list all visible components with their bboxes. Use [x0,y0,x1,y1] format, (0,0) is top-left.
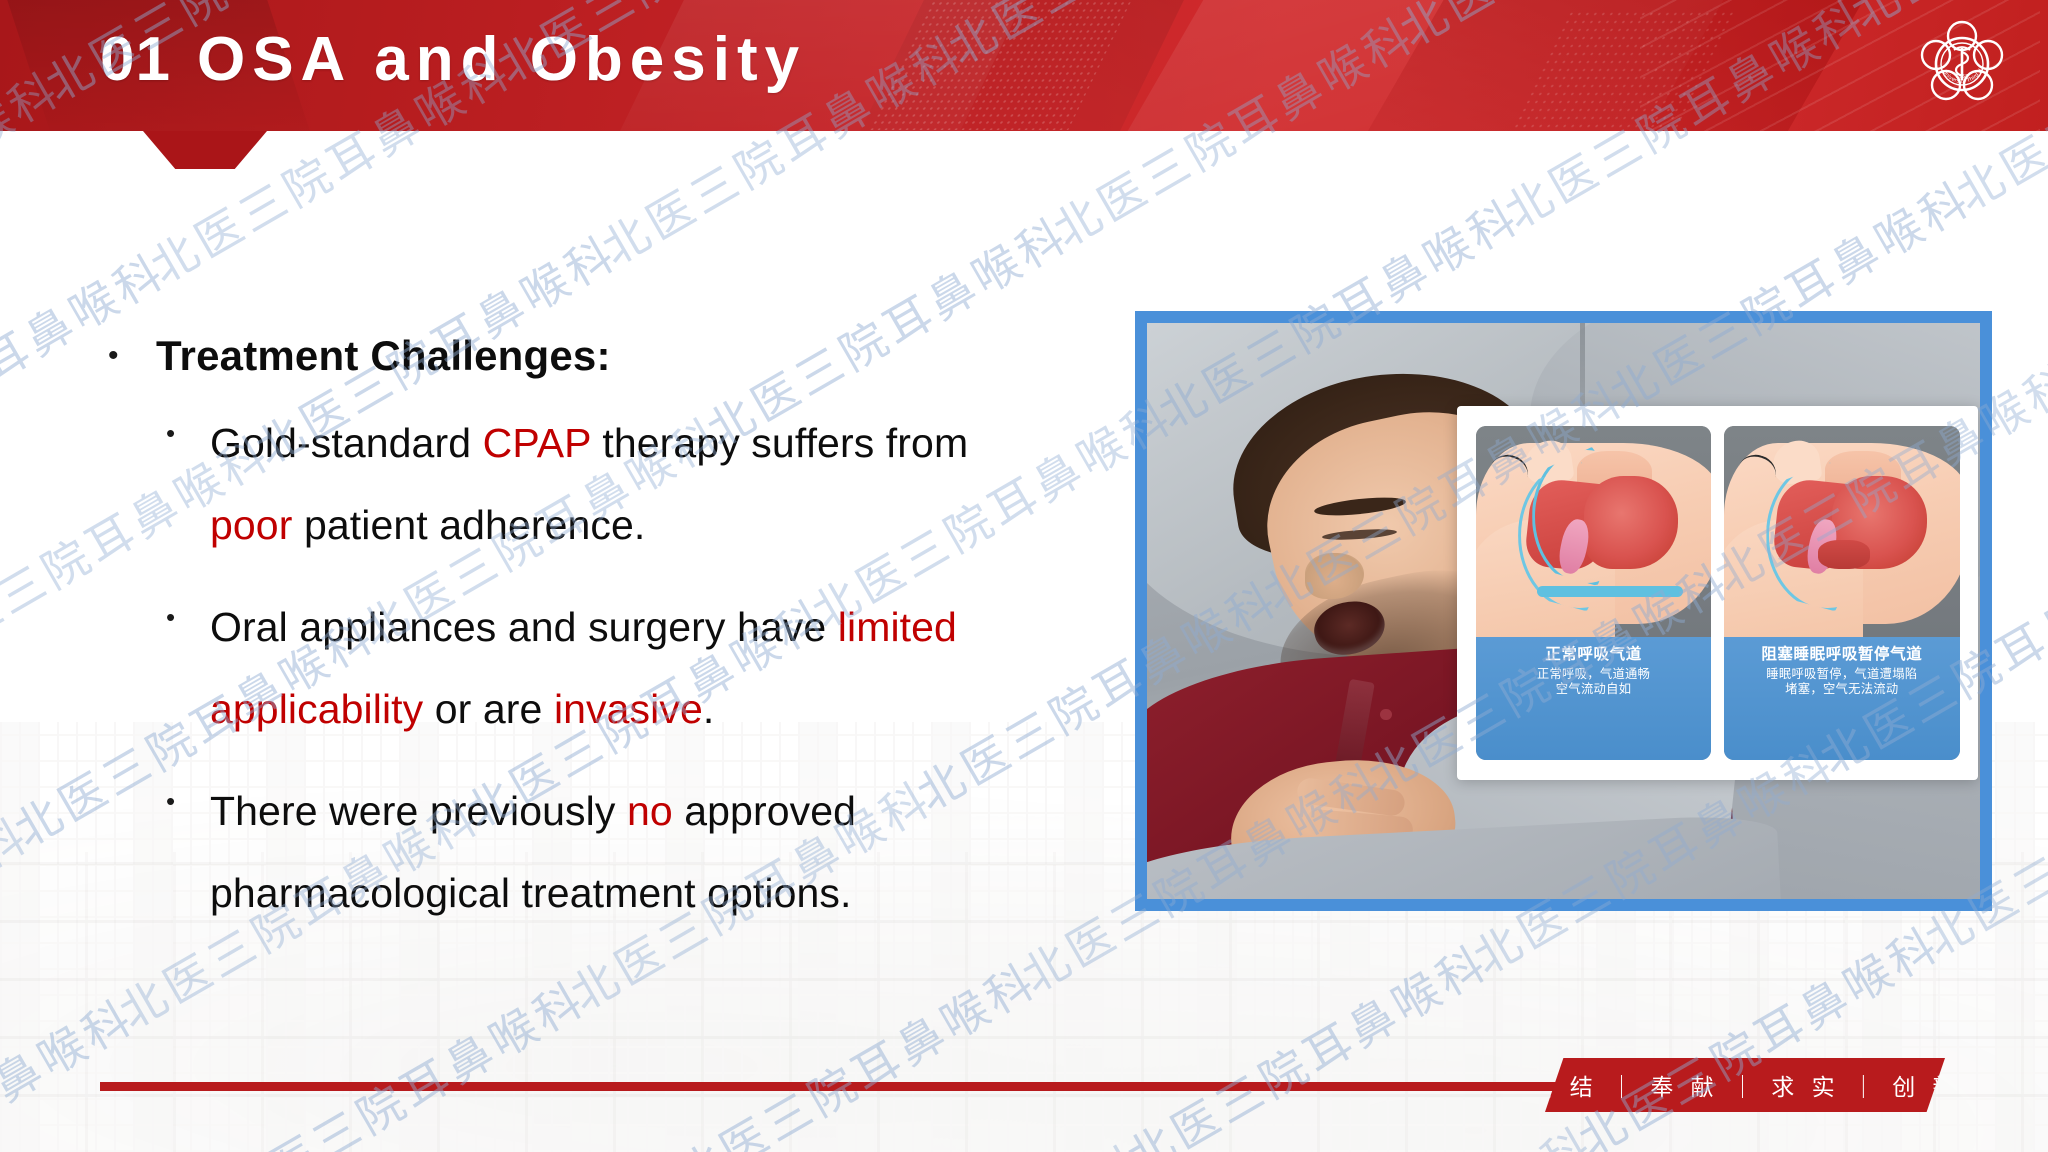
anatomy-airway-blockage [1818,540,1870,569]
airway-caption-line2: 堵塞，空气无法流动 [1728,682,1956,697]
header-notch [143,131,267,169]
bullet-text-1: Oral appliances and surgery have limited… [210,586,1000,750]
airway-caption-obstructed: 阻塞睡眠呼吸暂停气道 睡眠呼吸暂停，气道遭塌陷 堵塞，空气无法流动 [1724,637,1960,761]
watermark-text: 北医三院耳鼻喉科 [0,803,105,1152]
watermark-text: 北医三院耳鼻喉科 [662,949,1113,1152]
header-decor-shape-4 [1065,0,1776,131]
header-decor-dots-1 [868,0,1131,130]
bullet-glyph: • [108,330,156,382]
header-decor-shape-3 [817,0,1204,131]
header-decor-dots-2 [1511,10,1740,130]
list-item: • Gold-standard CPAP therapy suffers fro… [166,402,1118,566]
presentation-slide: 01OSA and Obesity 1958 [0,0,2048,1152]
section-title: OSA and Obesity [197,25,806,94]
bullet-glyph: • [166,770,210,832]
watermark-text: 北医三院耳鼻喉科 [767,1131,1218,1152]
airway-diagram-normal: 正常呼吸气道 正常呼吸，气道通畅 空气流动自如 [1476,426,1712,760]
airway-caption-line2: 空气流动自如 [1480,682,1708,697]
airway-caption-title: 正常呼吸气道 [1480,642,1708,664]
plain-text-run: Gold-standard [210,420,483,466]
highlighted-term: CPAP [483,420,591,466]
header-decor-shape-5 [1305,0,1875,131]
page-title: 01OSA and Obesity [100,24,806,95]
watermark-text: 北医三院耳鼻喉科 [210,967,661,1152]
bullet-heading-row: • Treatment Challenges: [108,330,1118,382]
sleep-apnea-image-panel: 正常呼吸气道 正常呼吸，气道通畅 空气流动自如 [1135,311,1992,911]
airway-caption-line1: 正常呼吸，气道通畅 [1480,667,1708,682]
list-item: • There were previously no approved phar… [166,770,1118,934]
plain-text-run: There were previously [210,788,627,834]
plain-text-run: Oral appliances and surgery have [210,604,838,650]
watermark-text: 北医三院耳鼻喉科 [1218,1113,1669,1152]
treatment-challenges-heading: Treatment Challenges: [156,330,611,382]
list-item: • Oral appliances and surgery have limit… [166,586,1118,750]
bullet-glyph: • [166,402,210,464]
slide-header-banner: 01OSA and Obesity 1958 [0,0,2048,131]
bullet-text-0: Gold-standard CPAP therapy suffers from … [210,402,1000,566]
footer-accent-line [100,1082,1648,1091]
section-number: 01 [100,25,171,94]
watermark-text: 北医三院耳鼻喉科 [1113,931,1564,1152]
airway-illustration-normal [1476,426,1712,637]
highlighted-term: poor [210,502,292,548]
highlighted-term: invasive [554,686,703,732]
airway-diagram-obstructed: 阻塞睡眠呼吸暂停气道 睡眠呼吸暂停，气道遭塌陷 堵塞，空气无法流动 [1724,426,1960,760]
plain-text-run: therapy suffers from [591,420,968,466]
bullet-text-2: There were previously no approved pharma… [210,770,1000,934]
anatomy-airflow-open [1537,586,1683,597]
airway-comparison-card: 正常呼吸气道 正常呼吸，气道通畅 空气流动自如 [1457,406,1978,780]
footer-motto-banner: 团 结 ｜ 奉 献 ｜ 求 实 ｜ 创 新 [1545,1058,1945,1112]
plain-text-run: or are [423,686,554,732]
watermark-text: 北医三院耳鼻喉科 [1565,913,2016,1152]
photo-inner: 正常呼吸气道 正常呼吸，气道通畅 空气流动自如 [1147,323,1980,899]
airway-caption-title: 阻塞睡眠呼吸暂停气道 [1728,642,1956,664]
watermark-text: 北医三院耳鼻喉科 [0,985,210,1152]
footer-motto-text: 团 结 ｜ 奉 献 ｜ 求 实 ｜ 创 新 [1529,1068,1960,1102]
sub-bullet-list: • Gold-standard CPAP therapy suffers fro… [166,402,1118,934]
plain-text-run: . [703,686,715,732]
airway-caption-line1: 睡眠呼吸暂停，气道遭塌陷 [1728,667,1956,682]
highlighted-term: no [627,788,673,834]
body-content: • Treatment Challenges: • Gold-standard … [108,330,1118,934]
airway-caption-normal: 正常呼吸气道 正常呼吸，气道通畅 空气流动自如 [1476,637,1712,761]
plain-text-run: patient adherence. [292,502,645,548]
airway-illustration-obstructed [1724,426,1960,637]
bullet-glyph: • [166,586,210,648]
hospital-emblem-icon: 1958 Peking University Third Hospital [1910,12,2014,116]
